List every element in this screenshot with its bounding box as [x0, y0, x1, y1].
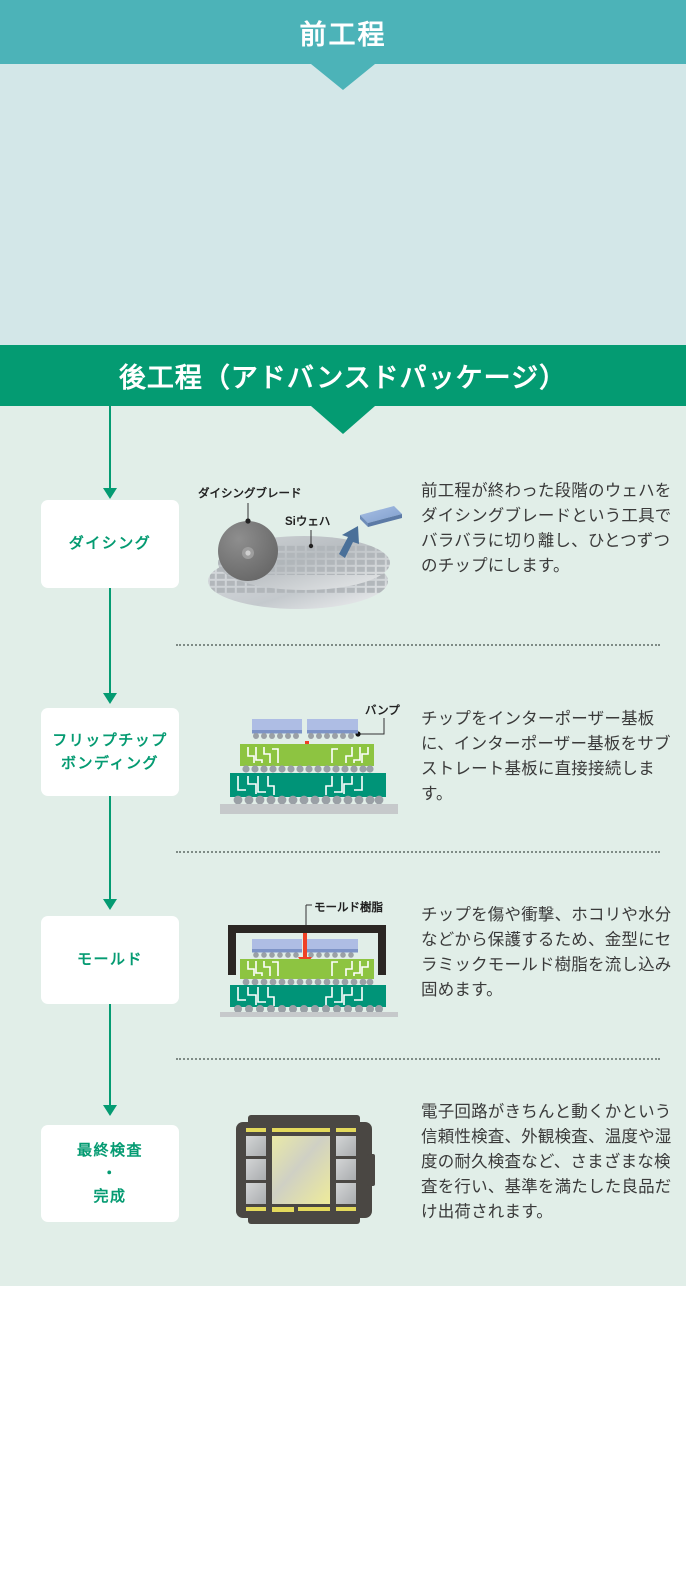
step-box-mold[interactable]: モールド — [41, 916, 179, 1004]
step-label-dicing: ダイシング — [69, 532, 152, 555]
step-label-mold: モールド — [77, 948, 143, 971]
package-substrate — [230, 985, 386, 1007]
interposer-substrate — [240, 959, 374, 979]
step-divider-2 — [176, 851, 660, 853]
step-box-dicing[interactable]: ダイシング — [41, 500, 179, 588]
step-description-flip-chip-bonding: チップをインターポーザー基板に、インターポーザー基板をサブストレート基板に直接接… — [421, 707, 677, 807]
interposer-bumps — [243, 979, 374, 986]
interposer-substrate — [240, 744, 374, 766]
back-process-header: 後工程（アドバンスドパッケージ） — [0, 345, 686, 406]
front-process-header: 前工程 — [0, 0, 686, 64]
step-description-mold: チップを傷や衝撃、ホコリや水分などから保護するため、金型にセラミックモールド樹脂… — [421, 903, 677, 1003]
step-divider-1 — [176, 644, 660, 646]
back-process-title: 後工程（アドバンスドパッケージ） — [0, 345, 686, 406]
step-box-flip-chip-bonding[interactable]: フリップチップ ボンディング — [41, 708, 179, 796]
svg-text:バンプ: バンプ — [365, 703, 400, 717]
step-divider-3 — [176, 1058, 660, 1060]
front-process-section: 前工程 — [0, 0, 686, 345]
step-box-final-inspection[interactable]: 最終検査 ・ 完成 — [41, 1125, 179, 1222]
front-process-down-arrow — [311, 64, 375, 90]
interposer-bumps — [242, 765, 373, 772]
finished-package-illustration — [228, 1455, 388, 1575]
flow-arrowhead-3 — [103, 899, 117, 910]
flow-line-segment-4 — [109, 1002, 111, 1105]
back-process-section: 後工程（アドバンスドパッケージ） ダイシング — [0, 345, 686, 1286]
mounting-board — [220, 1012, 398, 1017]
separated-chip — [360, 506, 402, 527]
main-die — [272, 1136, 330, 1204]
step-description-final-inspection: 電子回路がきちんと動くかという信頼性検査、外観検査、温度や湿度の耐久検査など、さ… — [421, 1100, 677, 1225]
callout-mold-resin: モールド樹脂 — [306, 900, 383, 929]
flow-arrowhead-2 — [103, 693, 117, 704]
step-label-final-inspection: 最終検査 ・ 完成 — [77, 1139, 143, 1209]
chip-dies — [252, 719, 358, 734]
flow-line-segment-3 — [109, 795, 111, 899]
flow-line-segment-1 — [109, 406, 111, 488]
package-substrate — [230, 773, 386, 797]
step-description-dicing: 前工程が終わった段階のウェハをダイシングブレードという工具でバラバラに切り離し、… — [421, 479, 677, 579]
callout-bump: バンプ — [355, 703, 400, 737]
front-process-title: 前工程 — [0, 0, 686, 64]
flow-arrowhead-1 — [103, 488, 117, 499]
flow-arrowhead-4 — [103, 1105, 117, 1116]
dicing-illustration: ダイシングブレード Siウェハ — [196, 475, 408, 615]
flow-line-segment-2 — [109, 587, 111, 693]
back-process-down-arrow — [311, 406, 375, 434]
step-label-flip-chip-bonding: フリップチップ ボンディング — [52, 729, 168, 776]
chip-micro-bumps — [253, 733, 354, 739]
svg-text:Siウェハ: Siウェハ — [285, 515, 330, 528]
svg-text:モールド樹脂: モールド樹脂 — [314, 900, 383, 914]
svg-text:ダイシングブレード: ダイシングブレード — [198, 486, 302, 500]
mold-illustration: モールド樹脂 — [212, 897, 412, 1017]
mounting-board — [220, 804, 398, 814]
contact-pads-top — [246, 1128, 356, 1132]
flip-chip-bonding-illustration: バンプ — [212, 700, 412, 815]
